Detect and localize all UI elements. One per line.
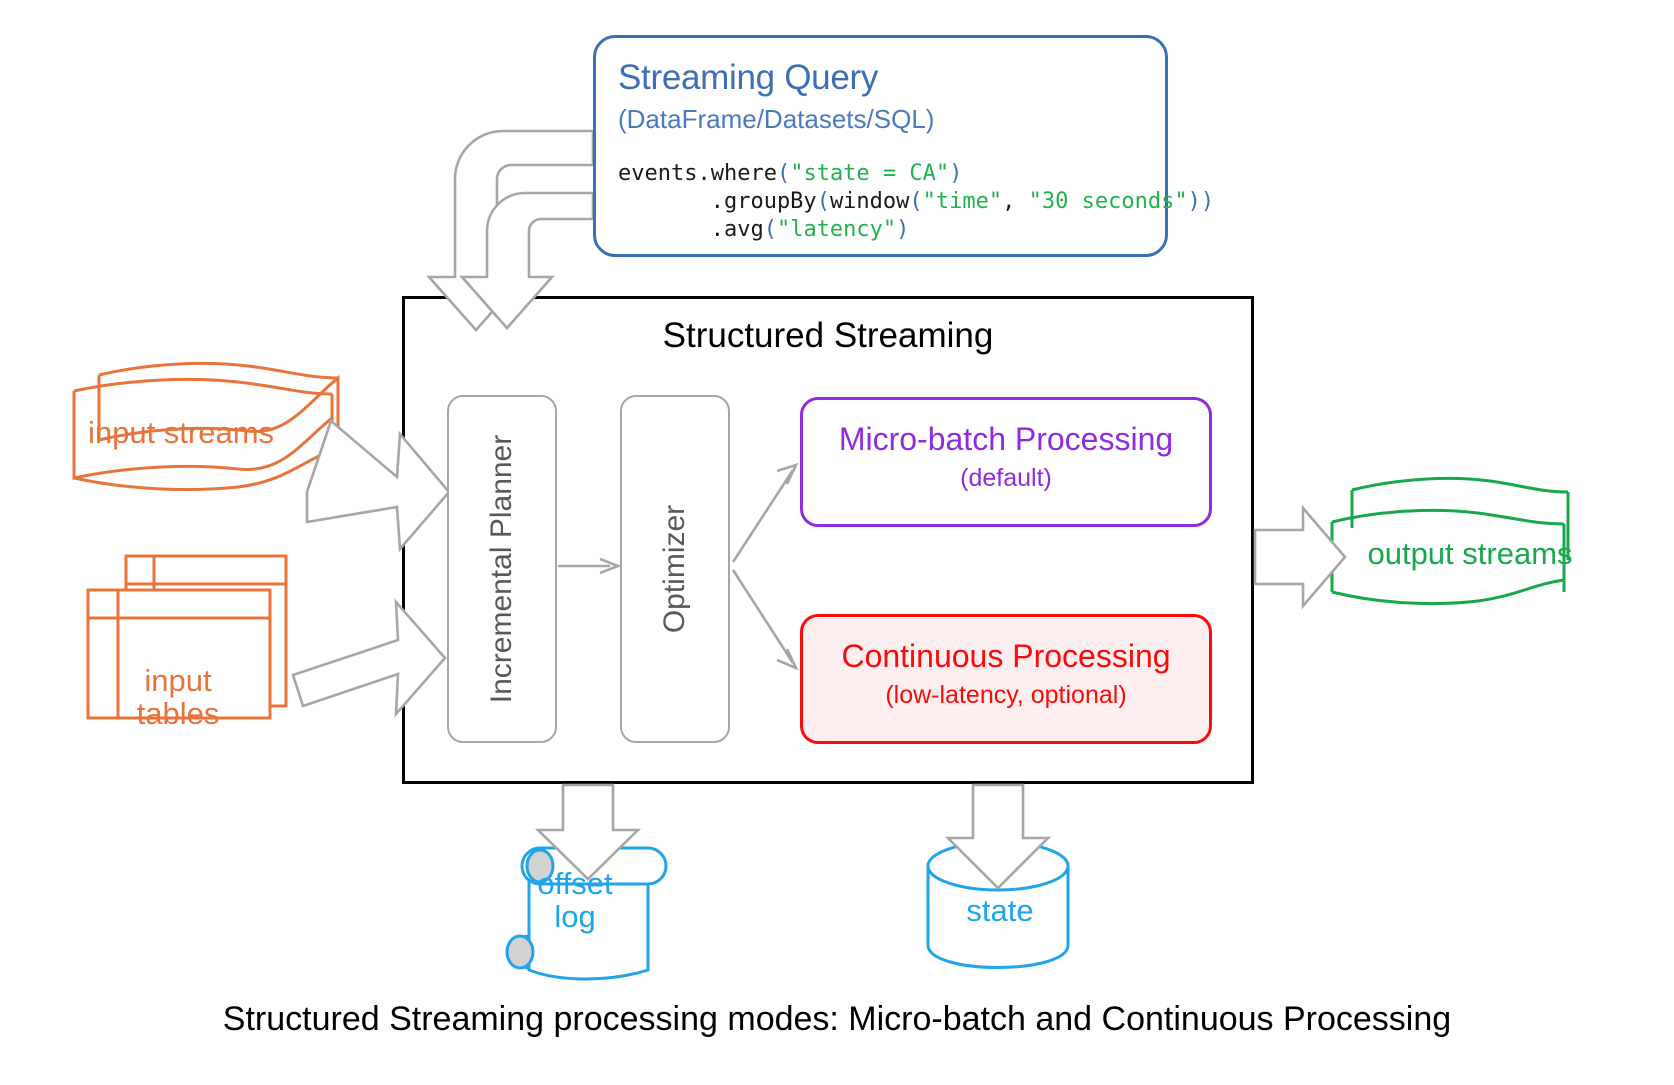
optimizer-box: Optimizer [620,395,730,743]
continuous-processing-box: Continuous Processing (low-latency, opti… [800,614,1212,744]
micro-batch-processing-box: Micro-batch Processing (default) [800,397,1212,527]
state-label: state [930,895,1070,928]
streaming-query-code: events.where("state = CA") .groupBy(wind… [618,160,1214,244]
input-streams-label: input streams [66,417,296,450]
code-line: .avg("latency") [618,216,1214,244]
code-token: window [830,189,909,214]
figure-caption: Structured Streaming processing modes: M… [0,1000,1674,1039]
code-token: .groupBy [618,189,817,214]
continuous-title: Continuous Processing [803,638,1209,675]
code-token: "time" [923,189,1002,214]
code-token: ) [896,217,909,242]
code-line: .groupBy(window("time", "30 seconds")) [618,188,1214,216]
code-token: ) [949,161,962,186]
incremental-planner-box: Incremental Planner [447,395,557,743]
engine-to-state-arrow [948,785,1048,888]
code-token: ( [909,189,922,214]
streaming-query-box: Streaming Query (DataFrame/Datasets/SQL)… [593,35,1168,257]
code-token: )) [1188,189,1215,214]
code-token: "state = CA" [790,161,949,186]
engine-to-output-arrow [1255,508,1345,606]
code-token: .avg [618,217,764,242]
incremental-planner-label: Incremental Planner [485,435,519,703]
output-streams-label: output streams [1340,538,1600,571]
code-token: , [1002,189,1029,214]
micro-batch-title: Micro-batch Processing [803,421,1209,458]
offset-log-label: offset log [520,868,630,934]
code-token: ( [764,217,777,242]
continuous-subtitle: (low-latency, optional) [803,681,1209,710]
code-token: ( [777,161,790,186]
code-token: "latency" [777,217,896,242]
code-line: events.where("state = CA") [618,160,1214,188]
input-tables-label: input tables [88,665,268,731]
code-token: ( [817,189,830,214]
diagram-canvas: Streaming Query (DataFrame/Datasets/SQL)… [0,0,1674,1085]
structured-streaming-title: Structured Streaming [405,316,1251,356]
streaming-query-subtitle: (DataFrame/Datasets/SQL) [618,104,934,135]
code-token: events.where [618,161,777,186]
optimizer-label: Optimizer [658,505,692,633]
engine-to-offset-log-arrow [538,785,638,879]
code-token: "30 seconds" [1029,189,1188,214]
streaming-query-title: Streaming Query [618,58,878,98]
micro-batch-subtitle: (default) [803,464,1209,493]
